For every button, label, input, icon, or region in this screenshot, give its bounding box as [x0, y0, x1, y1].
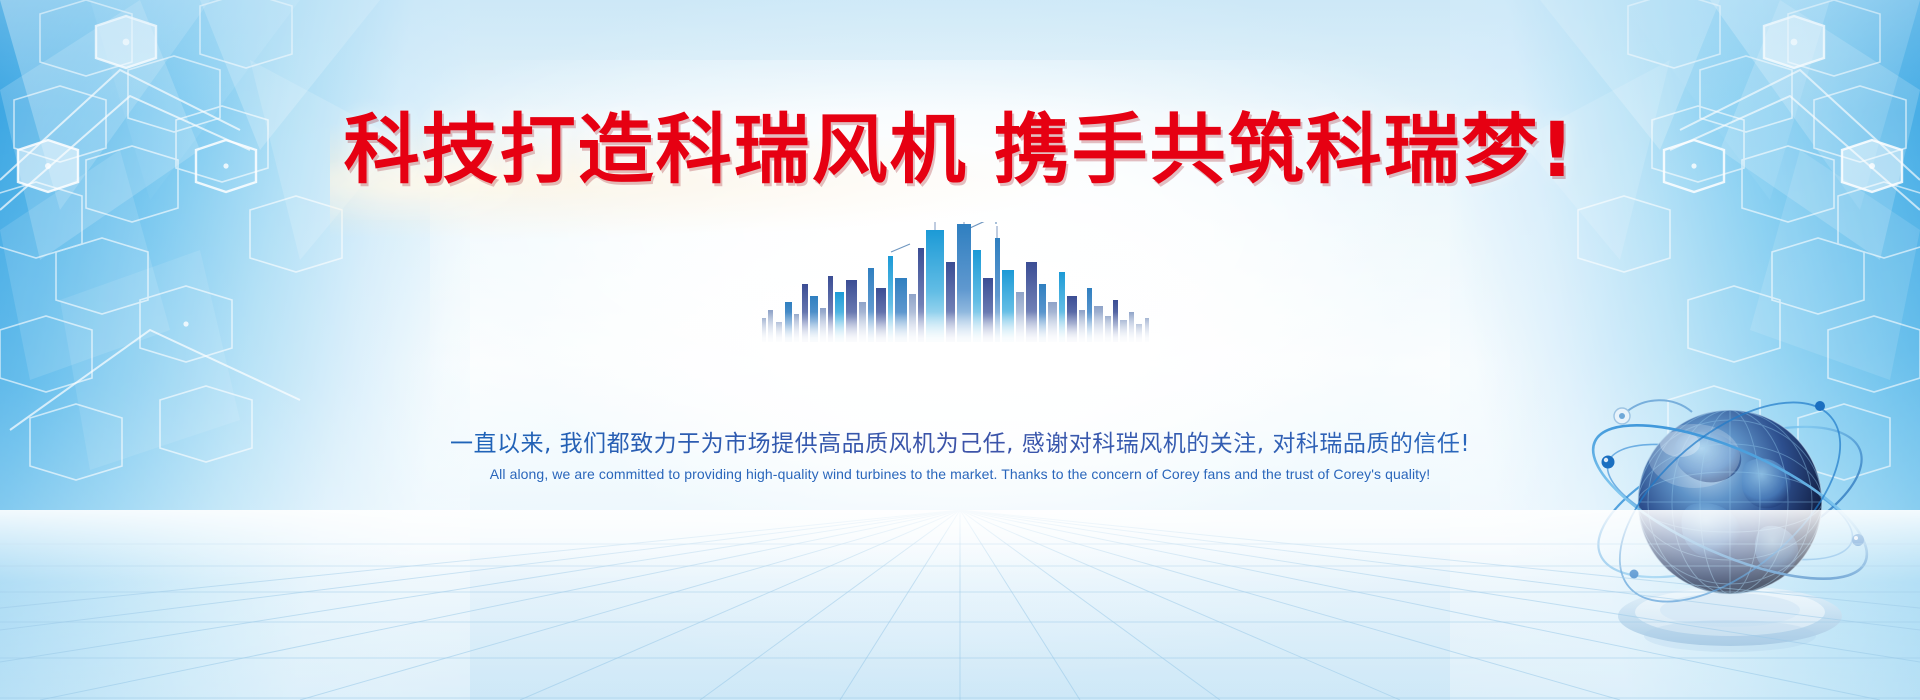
headline-segment-b: 携手共筑科瑞梦!	[994, 105, 1577, 194]
perspective-grid-floor	[0, 510, 1920, 700]
hero-banner: 科技打造科瑞风机携手共筑科瑞梦! 一直以来, 我们都致力于为市场提供高品质风机为…	[0, 0, 1920, 700]
page-title: 科技打造科瑞风机携手共筑科瑞梦!	[0, 112, 1920, 188]
headline-segment-a: 科技打造科瑞风机	[344, 105, 968, 194]
city-base-fade	[760, 312, 1160, 354]
